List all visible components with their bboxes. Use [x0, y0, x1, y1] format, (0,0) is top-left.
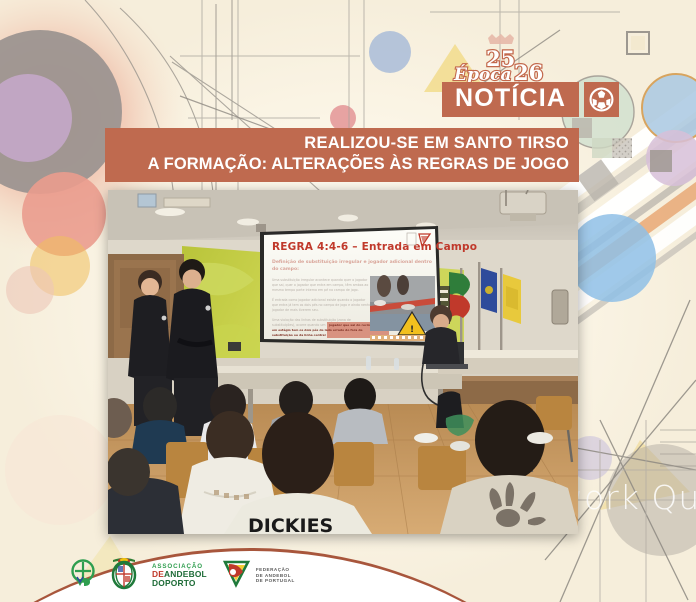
aap-shield-icon: [70, 559, 96, 592]
svg-text:mesmo tempo parte interna em p: mesmo tempo parte interna em pé no campo…: [272, 288, 359, 292]
porto-crest-icon: [110, 556, 138, 595]
aap-wordmark: ASSOCIAÇÃO DEANDEBOL DOPORTO: [152, 564, 207, 587]
poster-canvas: work Quotu: [0, 0, 696, 602]
fap-line-3: DE PORTUGAL: [256, 578, 295, 584]
svg-text:do campo:: do campo:: [272, 266, 299, 272]
svg-text:substituição ou da linha centr: substituição ou da linha central: [272, 333, 326, 337]
svg-text:que sai, quer o jogador que en: que sai, quer o jogador que entra em cam…: [272, 283, 368, 287]
aap-line-3: DOPORTO: [152, 579, 207, 588]
season-logo: 25 26 Época: [452, 34, 562, 86]
news-badge: NOTÍCIA: [442, 82, 619, 117]
svg-text:!: !: [410, 325, 414, 335]
aap-line-3-prefix: DO: [152, 578, 165, 588]
svg-text:REGRA 4:4-6 – Entrada em Campo: REGRA 4:4-6 – Entrada em Campo: [272, 241, 477, 253]
svg-text:que entra já tem os dois pés n: que entra já tem os dois pés no campo de…: [272, 303, 374, 307]
headline-line-1: REALIZOU-SE EM SANTO TIRSO: [105, 133, 569, 154]
crown-icon: [488, 34, 514, 44]
svg-text:Uma substituição irregular aco: Uma substituição irregular acontece quan…: [272, 278, 368, 282]
headline-banner: REALIZOU-SE EM SANTO TIRSO A FORMAÇÃO: A…: [105, 128, 579, 182]
svg-text:substituições), ocorre quando: substituições), ocorre quando um: [272, 323, 326, 327]
fap-triangle-icon: [221, 558, 251, 593]
headline-line-2: A FORMAÇÃO: ALTERAÇÕES ÀS REGRAS DE JOGO: [105, 154, 569, 175]
svg-text:jogador que sai do recinto: jogador que sai do recinto: [328, 323, 373, 327]
aap-line-3-main: PORTO: [165, 578, 196, 588]
svg-text:em estágio tem os dois pés de: em estágio tem os dois pés de lado errad…: [272, 328, 363, 332]
fap-logo: FEDERAÇÃO DE ANDEBOL DE PORTUGAL: [221, 558, 295, 593]
news-badge-label: NOTÍCIA: [442, 82, 579, 117]
news-photo: REGRA 4:4-6 – Entrada em Campo Definição…: [108, 190, 578, 534]
svg-text:jogador de mais tiverem seu.: jogador de mais tiverem seu.: [271, 308, 319, 312]
svg-text:Definição de substituição irre: Definição de substituição irregular e jo…: [272, 259, 432, 265]
svg-text:É entrada como jogador adicion: É entrada como jogador adicional existe …: [272, 297, 366, 302]
shirt-brand-text: DICKIES: [248, 515, 333, 534]
handball-ball-icon: [584, 82, 619, 117]
svg-text:Uma violação das linhas de sub: Uma violação das linhas de substituição …: [272, 318, 351, 322]
logo-bar: ASSOCIAÇÃO DEANDEBOL DOPORTO FEDERAÇÃO D…: [70, 556, 295, 595]
